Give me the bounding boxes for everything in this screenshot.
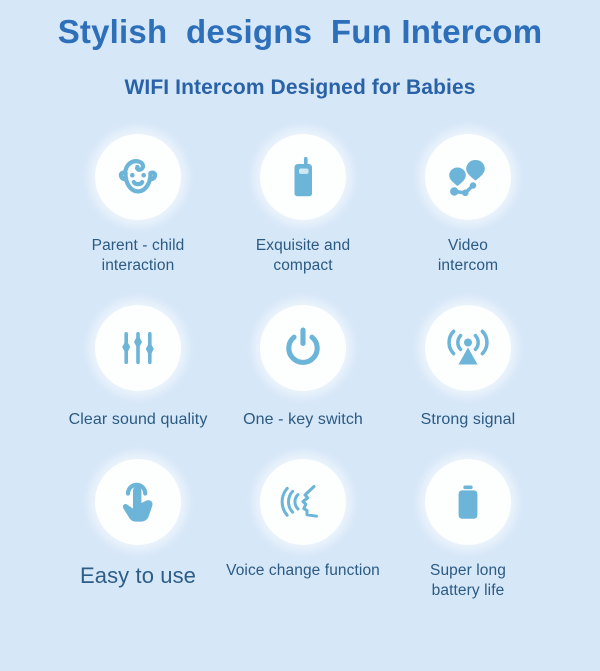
promo-banner: Stylish designs Fun Intercom WIFI Interc… [0, 0, 600, 671]
feature-item-parent-child[interactable]: Parent - child interaction [56, 134, 221, 277]
power-button-icon [278, 323, 328, 373]
feature-label: Clear sound quality [69, 409, 208, 430]
feature-label: Super long battery life [430, 561, 506, 602]
feature-label: Voice change function [226, 561, 380, 581]
feature-item-video-intercom[interactable]: Video intercom [386, 134, 551, 277]
feature-label: Parent - child interaction [92, 236, 185, 277]
voice-change-face-icon [278, 477, 328, 527]
walkie-talkie-icon [277, 151, 329, 203]
feature-item-voice-change[interactable]: Voice change function [221, 459, 386, 581]
feature-label: Exquisite and compact [256, 236, 350, 277]
icon-bubble [425, 305, 511, 391]
feature-label: Video intercom [438, 236, 498, 277]
feature-item-exquisite-compact[interactable]: Exquisite and compact [221, 134, 386, 277]
feature-label: One - key switch [243, 409, 363, 430]
baby-face-icon [112, 151, 164, 203]
icon-bubble [260, 134, 346, 220]
feature-row: Easy to use V [0, 459, 600, 602]
icon-bubble [260, 305, 346, 391]
feature-label: Easy to use [80, 561, 196, 590]
feature-item-clear-sound[interactable]: Clear sound quality [56, 305, 221, 430]
icon-bubble [95, 134, 181, 220]
battery-icon [443, 477, 493, 527]
icon-bubble [425, 459, 511, 545]
feature-item-easy-to-use[interactable]: Easy to use [56, 459, 221, 590]
feature-item-strong-signal[interactable]: Strong signal [386, 305, 551, 430]
touch-hand-icon [113, 477, 163, 527]
feature-row: Parent - child interaction Exquisite and… [0, 134, 600, 277]
feature-row: Clear sound quality One - key switch [0, 305, 600, 430]
icon-bubble [260, 459, 346, 545]
icon-bubble [95, 459, 181, 545]
page-title: Stylish designs Fun Intercom [0, 13, 600, 51]
feature-item-one-key-switch[interactable]: One - key switch [221, 305, 386, 430]
feature-item-battery-life[interactable]: Super long battery life [386, 459, 551, 602]
feature-label: Strong signal [421, 409, 516, 430]
sound-sliders-icon [113, 323, 163, 373]
video-intercom-pins-icon [442, 151, 494, 203]
feature-grid: Parent - child interaction Exquisite and… [0, 134, 600, 602]
page-subtitle: WIFI Intercom Designed for Babies [0, 76, 600, 100]
icon-bubble [425, 134, 511, 220]
broadcast-signal-icon [443, 323, 493, 373]
icon-bubble [95, 305, 181, 391]
